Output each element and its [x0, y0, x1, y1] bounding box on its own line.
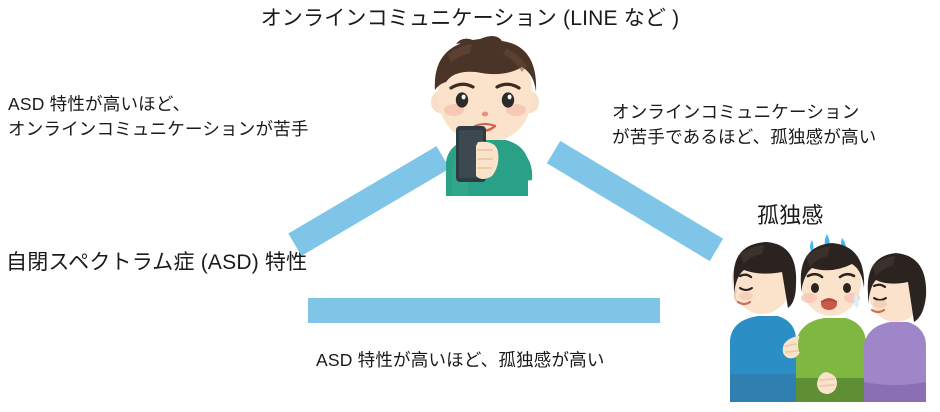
- connector-bar-asd-to-loneliness: [308, 298, 660, 323]
- edge-label-asd-to-online: ASD 特性が高いほど、 オンラインコミュニケーションが苦手: [8, 92, 309, 143]
- connector-bar-online-to-loneliness: [547, 141, 723, 261]
- boy-with-phone-illustration: [418, 34, 554, 196]
- node-label-asd-traits: 自閉スペクトラム症 (ASD) 特性: [6, 248, 307, 278]
- figure-left: [730, 242, 796, 402]
- group-of-three-illustration: [700, 232, 940, 412]
- diagram-canvas: オンラインコミュニケーション (LINE など ) ASD 特性が高いほど、 オ…: [0, 0, 940, 412]
- edge-label-online-to-loneliness: オンラインコミュニケーション が苦手であるほど、孤独感が高い: [612, 100, 876, 151]
- edge-label-asd-to-loneliness: ASD 特性が高いほど、孤独感が高い: [316, 348, 605, 373]
- figure-right: [864, 253, 926, 402]
- node-label-loneliness: 孤独感: [757, 200, 824, 232]
- diagram-title: オンラインコミュニケーション (LINE など ): [0, 4, 940, 34]
